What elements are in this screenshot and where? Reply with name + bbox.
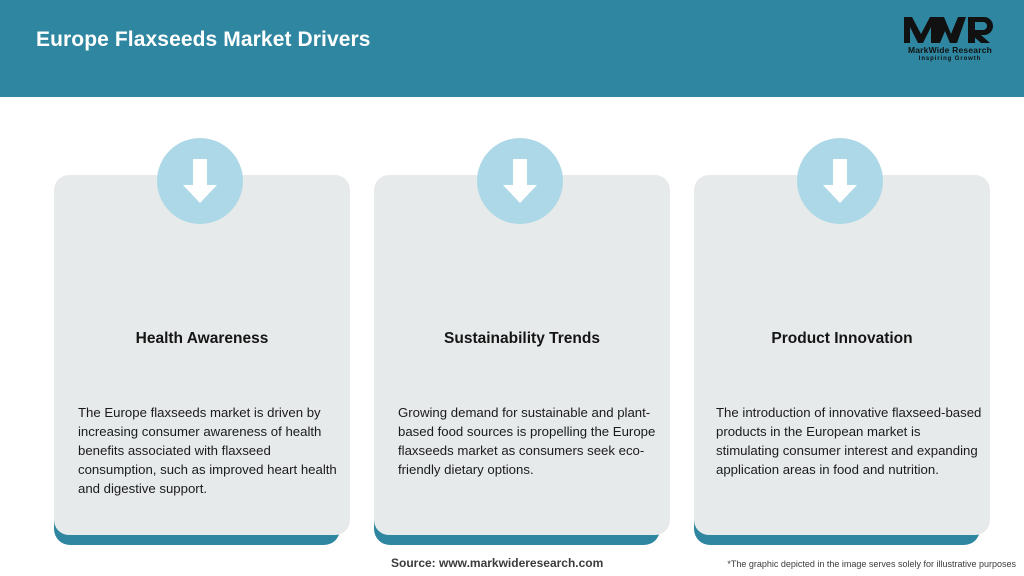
card-surface: Product Innovation The introduction of i… <box>694 175 990 535</box>
card-title: Health Awareness <box>54 330 350 348</box>
arrow-down-icon-badge <box>157 138 243 224</box>
mwr-logomark-icon <box>902 14 998 44</box>
card-body-text: Growing demand for sustainable and plant… <box>398 403 660 479</box>
card-surface: Health Awareness The Europe flaxseeds ma… <box>54 175 350 535</box>
card-title: Sustainability Trends <box>374 330 670 348</box>
driver-card-product-innovation: Product Innovation The introduction of i… <box>680 97 1000 552</box>
drivers-card-group: Health Awareness The Europe flaxseeds ma… <box>0 97 1024 552</box>
card-body-text: The introduction of innovative flaxseed-… <box>716 403 982 479</box>
source-label: Source: www.markwideresearch.com <box>391 556 603 570</box>
arrow-down-icon <box>180 155 220 207</box>
driver-card-health-awareness: Health Awareness The Europe flaxseeds ma… <box>40 97 360 552</box>
brand-logo: MarkWide Research Inspiring Growth <box>894 10 1006 66</box>
arrow-down-icon-badge <box>797 138 883 224</box>
logo-company-name: MarkWide Research <box>908 45 992 55</box>
disclaimer-label: *The graphic depicted in the image serve… <box>727 559 1016 569</box>
arrow-down-icon-badge <box>477 138 563 224</box>
logo-tagline: Inspiring Growth <box>919 56 981 62</box>
card-body-text: The Europe flaxseeds market is driven by… <box>78 403 340 498</box>
page-title: Europe Flaxseeds Market Drivers <box>36 28 371 52</box>
card-surface: Sustainability Trends Growing demand for… <box>374 175 670 535</box>
driver-card-sustainability-trends: Sustainability Trends Growing demand for… <box>360 97 680 552</box>
arrow-down-icon <box>500 155 540 207</box>
arrow-down-icon <box>820 155 860 207</box>
header-band: Europe Flaxseeds Market Drivers MarkWide… <box>0 0 1024 97</box>
card-title: Product Innovation <box>694 330 990 348</box>
